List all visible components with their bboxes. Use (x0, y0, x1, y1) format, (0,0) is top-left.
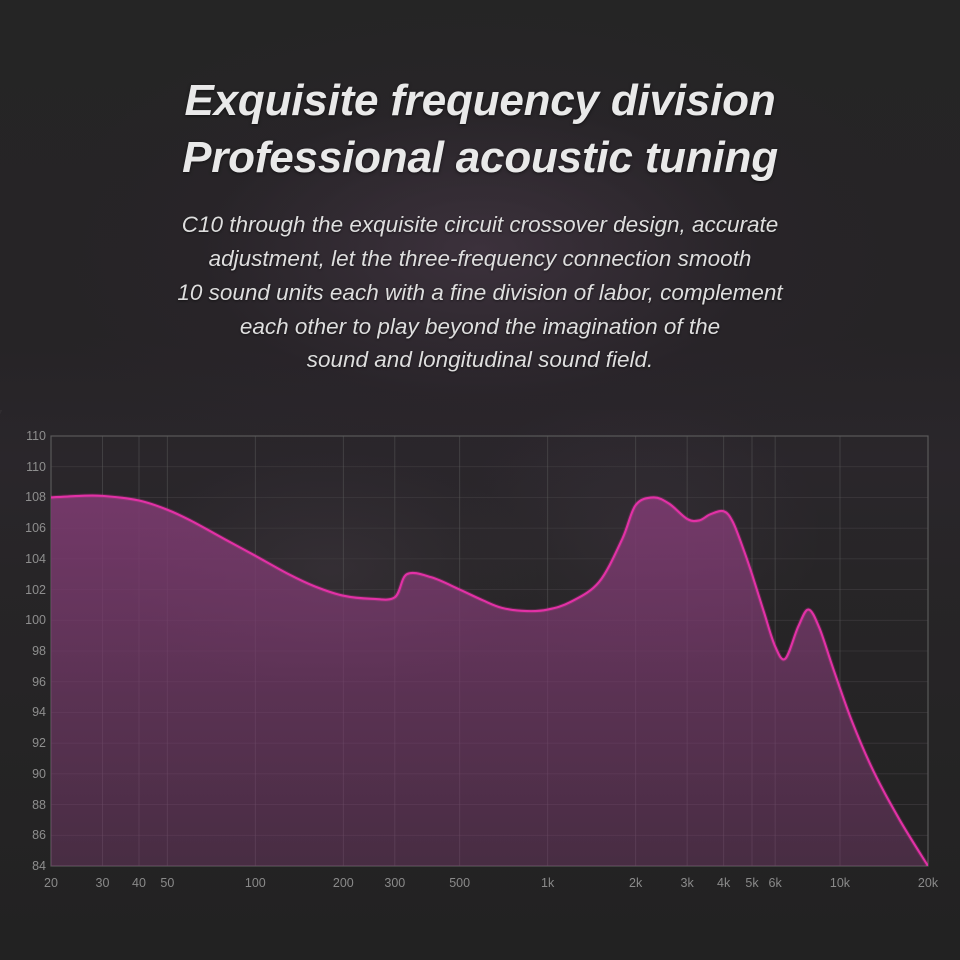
x-axis-tick-label: 1k (541, 876, 554, 890)
header-section: Exquisite frequency division Professiona… (0, 0, 960, 420)
x-axis-labels: 203040501002003005001k2k3k4k5k6k10k20k (0, 410, 960, 910)
x-axis-tick-label: 50 (160, 876, 174, 890)
page-subtitle-line-4: each other to play beyond the imaginatio… (0, 310, 960, 344)
page-title: Exquisite frequency division Professiona… (0, 72, 960, 186)
x-axis-tick-label: 200 (333, 876, 354, 890)
x-axis-tick-label: 20k (918, 876, 938, 890)
x-axis-tick-label: 30 (96, 876, 110, 890)
x-axis-tick-label: 500 (449, 876, 470, 890)
page-title-line-1: Exquisite frequency division (0, 72, 960, 129)
x-axis-tick-label: 20 (44, 876, 58, 890)
x-axis-tick-label: 300 (384, 876, 405, 890)
x-axis-tick-label: 5k (745, 876, 758, 890)
page-title-line-2: Professional acoustic tuning (0, 129, 960, 186)
promo-page: Exquisite frequency division Professiona… (0, 0, 960, 960)
x-axis-tick-label: 4k (717, 876, 730, 890)
page-subtitle-line-2: adjustment, let the three-frequency conn… (0, 242, 960, 276)
page-subtitle-line-5: sound and longitudinal sound field. (0, 343, 960, 377)
page-subtitle-line-1: C10 through the exquisite circuit crosso… (0, 208, 960, 242)
x-axis-tick-label: 6k (769, 876, 782, 890)
x-axis-tick-label: 10k (830, 876, 850, 890)
x-axis-tick-label: 40 (132, 876, 146, 890)
page-subtitle-line-3: 10 sound units each with a fine division… (0, 276, 960, 310)
page-subtitle: C10 through the exquisite circuit crosso… (0, 208, 960, 377)
x-axis-tick-label: 3k (681, 876, 694, 890)
x-axis-tick-label: 100 (245, 876, 266, 890)
x-axis-tick-label: 2k (629, 876, 642, 890)
frequency-response-chart: 1101101081061041021009896949290888684 20… (0, 410, 960, 910)
